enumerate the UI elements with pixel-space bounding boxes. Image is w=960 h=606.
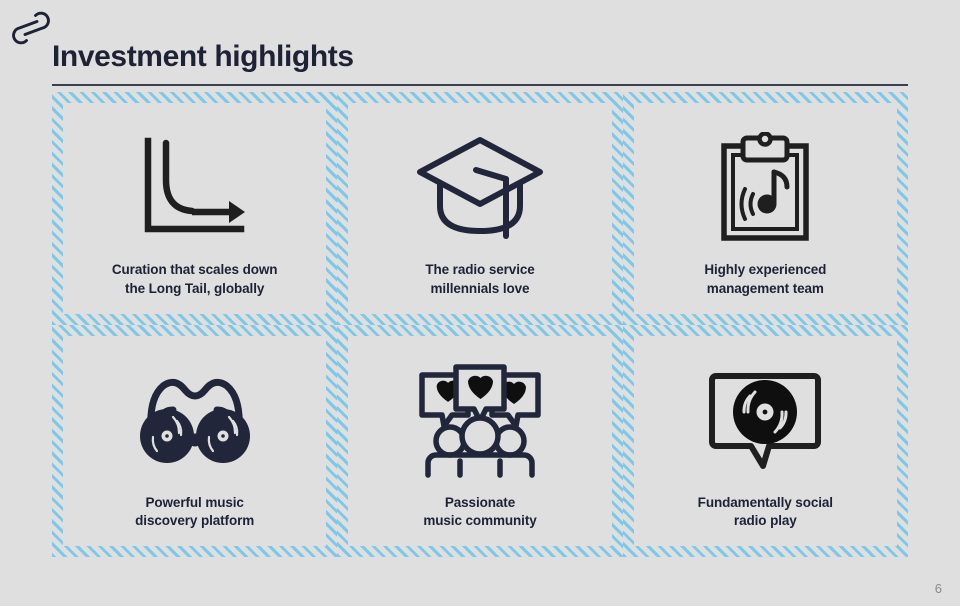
card-label-line2: the Long Tail, globally xyxy=(112,280,278,299)
people-heart-bubbles-icon xyxy=(416,360,544,480)
card-label: The radio service millennials love xyxy=(425,261,534,298)
card-label: Curation that scales down the Long Tail,… xyxy=(112,261,278,298)
clipboard-music-note-icon xyxy=(717,127,813,247)
highlight-card-management-team[interactable]: Highly experienced management team xyxy=(623,92,908,325)
binoculars-vinyl-icon xyxy=(133,360,257,480)
highlights-grid: Curation that scales down the Long Tail,… xyxy=(52,92,908,557)
card-label-line1: Curation that scales down xyxy=(112,261,278,280)
brand-logo xyxy=(12,10,50,46)
card-label-line1: Fundamentally social xyxy=(698,494,833,513)
card-label-line2: management team xyxy=(704,280,826,299)
card-content: Passionate music community xyxy=(348,336,611,547)
card-label-line2: discovery platform xyxy=(135,512,254,531)
page-number: 6 xyxy=(935,581,942,596)
highlight-card-music-community[interactable]: Passionate music community xyxy=(337,325,622,558)
highlight-card-discovery-platform[interactable]: Powerful music discovery platform xyxy=(52,325,337,558)
card-label: Powerful music discovery platform xyxy=(135,494,254,531)
title-divider xyxy=(52,84,908,86)
card-label: Fundamentally social radio play xyxy=(698,494,833,531)
highlight-card-radio-service[interactable]: The radio service millennials love xyxy=(337,92,622,325)
card-label: Passionate music community xyxy=(423,494,536,531)
card-label-line2: millennials love xyxy=(425,280,534,299)
card-label-line1: Powerful music xyxy=(135,494,254,513)
card-label-line1: Passionate xyxy=(423,494,536,513)
card-content: Highly experienced management team xyxy=(634,103,897,314)
card-label-line2: music community xyxy=(423,512,536,531)
card-label: Highly experienced management team xyxy=(704,261,826,298)
card-content: Fundamentally social radio play xyxy=(634,336,897,547)
long-tail-chart-icon xyxy=(135,127,255,247)
card-content: Powerful music discovery platform xyxy=(63,336,326,547)
card-content: The radio service millennials love xyxy=(348,103,611,314)
highlight-card-curation[interactable]: Curation that scales down the Long Tail,… xyxy=(52,92,337,325)
card-content: Curation that scales down the Long Tail,… xyxy=(63,103,326,314)
card-label-line2: radio play xyxy=(698,512,833,531)
graduation-cap-icon xyxy=(414,127,546,247)
card-label-line1: The radio service xyxy=(425,261,534,280)
page-title: Investment highlights xyxy=(52,42,354,72)
speech-bubble-vinyl-icon xyxy=(706,360,824,480)
highlight-card-social-radio[interactable]: Fundamentally social radio play xyxy=(623,325,908,558)
interlocking-loops-logo-icon xyxy=(12,10,50,46)
card-label-line1: Highly experienced xyxy=(704,261,826,280)
